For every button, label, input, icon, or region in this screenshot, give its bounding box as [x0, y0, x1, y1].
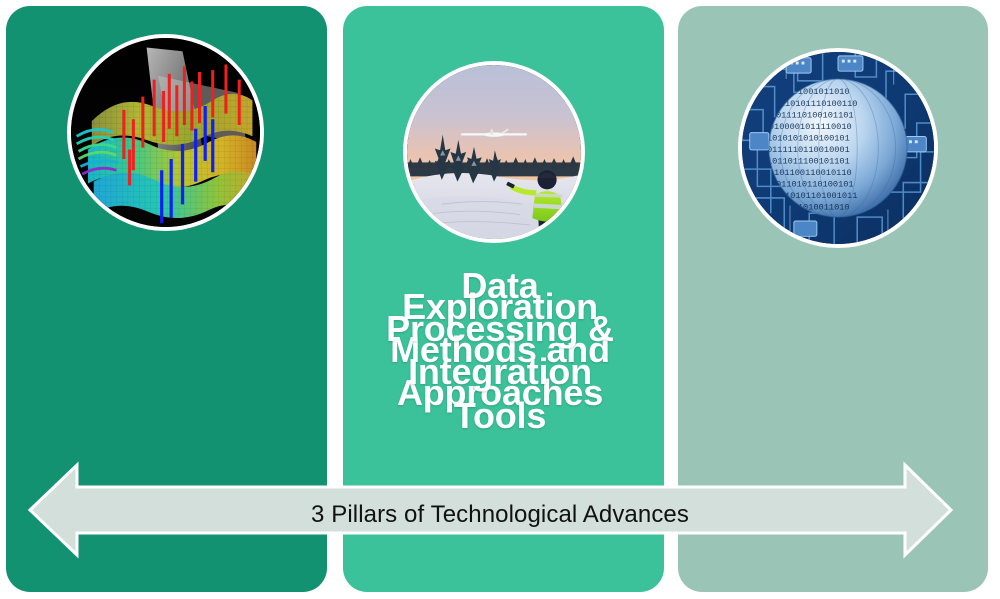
svg-text:1011010110100101: 1011010110100101 [771, 179, 854, 189]
pillar-title-data-processing-and-integration-tools: Data Processing & Integration Tools [0, 264, 1000, 437]
3d-geological-model-image [67, 34, 264, 231]
svg-text:0111110110010001: 0111110110010001 [767, 145, 850, 155]
svg-text:1011110100101101: 1011110100101101 [771, 110, 854, 120]
binary-data-sphere-image: 1101001011010 0110101110100110 101111010… [738, 48, 938, 248]
infographic-canvas: Mineral Systems Modeling [0, 0, 1000, 599]
drone-survey-photo [403, 61, 585, 243]
technological-advances-banner: 3 Pillars of Technological Advances [0, 455, 1000, 575]
svg-text:1011011100101101: 1011011100101101 [767, 156, 850, 166]
svg-text:0101100110010110: 0101100110010110 [769, 168, 852, 178]
banner-caption: 3 Pillars of Technological Advances [0, 498, 1000, 532]
svg-text:1010101010100101: 1010101010100101 [767, 133, 850, 143]
svg-text:0100001011110010: 0100001011110010 [769, 122, 852, 132]
